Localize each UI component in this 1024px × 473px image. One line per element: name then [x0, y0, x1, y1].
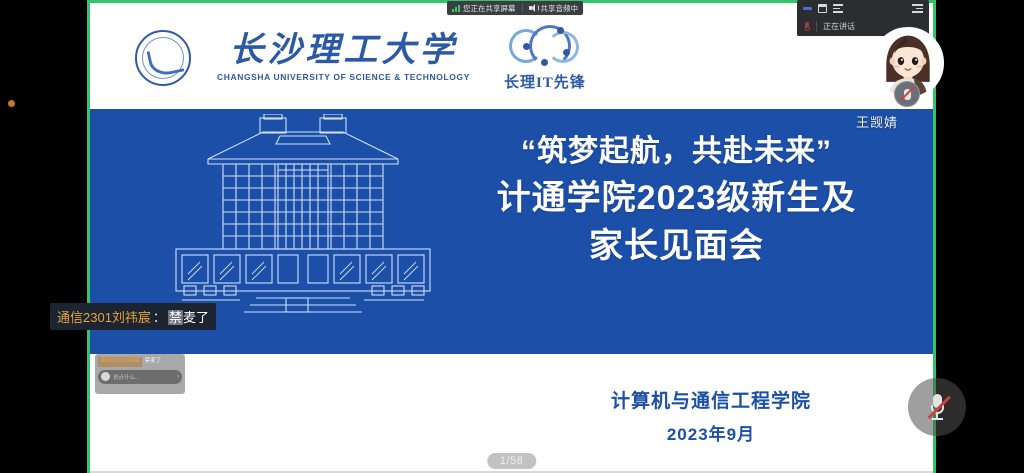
participant-name-label: 王觊婧	[856, 112, 898, 131]
chat-toast-message-highlight: 禁	[168, 310, 183, 325]
screen-root: 长沙理工大学 CHANGSHA UNIVERSITY OF SCIENCE & …	[0, 0, 1024, 473]
slide-title-group: “筑梦起航，共赴未来” 计通学院2023级新生及 家长见面会	[440, 131, 913, 270]
mute-microphone-button[interactable]	[908, 378, 966, 436]
mini-chat-message: 通信2301刘祎宸 禁麦了	[98, 357, 182, 367]
sharing-screen-status: 您正在共享屏幕	[452, 3, 516, 14]
send-icon[interactable]: ›	[177, 374, 179, 380]
university-name-en: CHANGSHA UNIVERSITY OF SCIENCE & TECHNOL…	[217, 72, 470, 82]
mini-chat-input-placeholder[interactable]: 说点什么...	[113, 373, 174, 381]
slide-title-line-2: 计通学院2023级新生及	[440, 174, 913, 222]
list-icon[interactable]	[833, 4, 843, 13]
it-pioneer-label: 长理IT先锋	[504, 71, 586, 92]
sharing-screen-label: 您正在共享屏幕	[463, 3, 516, 14]
university-logo: 长沙理工大学 CHANGSHA UNIVERSITY OF SCIENCE & …	[217, 33, 470, 82]
floating-window-titlebar[interactable]	[797, 0, 929, 17]
slide-footer-org: 计算机与通信工程学院	[611, 386, 811, 413]
restore-icon[interactable]	[818, 4, 827, 13]
slide-title-line-3: 家长见面会	[440, 222, 913, 270]
panel-icon[interactable]	[912, 4, 923, 13]
chat-toast-sender: 通信2301刘祎宸	[57, 307, 151, 326]
participant-avatar-wrapper[interactable]	[872, 27, 944, 99]
mini-chat-input-row[interactable]: 说点什么... ›	[98, 370, 182, 384]
status-divider	[522, 4, 523, 13]
desktop-dot-artifact	[8, 100, 15, 107]
campus-building-illustration	[168, 114, 438, 329]
chat-toast-message-rest: 麦了	[183, 310, 209, 325]
sharing-audio-label: 共享音频中	[541, 3, 579, 14]
chat-toast-message: 禁麦了	[168, 307, 209, 326]
shared-screen-region: 长沙理工大学 CHANGSHA UNIVERSITY OF SCIENCE & …	[87, 0, 936, 473]
presentation-slide[interactable]: 长沙理工大学 CHANGSHA UNIVERSITY OF SCIENCE & …	[90, 3, 933, 473]
network-rings-icon	[507, 23, 583, 69]
minimize-icon[interactable]	[803, 7, 812, 10]
speaking-divider	[816, 21, 817, 32]
emoji-icon[interactable]	[101, 372, 110, 381]
microphone-icon	[804, 22, 810, 32]
university-seal-icon	[135, 30, 191, 86]
screen-share-status-bar[interactable]: 您正在共享屏幕 共享音频中	[447, 1, 583, 15]
signal-bars-icon	[452, 4, 460, 12]
speaker-icon	[529, 4, 538, 12]
mini-chat-text: 禁麦了	[145, 359, 162, 365]
microphone-muted-icon	[931, 394, 944, 420]
chat-toast-colon: ：	[153, 307, 166, 326]
sharing-audio-status: 共享音频中	[529, 3, 579, 14]
slide-title-line-1: “筑梦起航，共赴未来”	[440, 131, 913, 174]
page-indicator: 1/58	[487, 453, 536, 469]
logo-row: 长沙理工大学 CHANGSHA UNIVERSITY OF SCIENCE & …	[135, 23, 586, 92]
floating-window-right-controls[interactable]	[912, 4, 923, 13]
mini-chat-sender: 通信2301刘祎宸	[98, 357, 142, 367]
slide-footer-text: 计算机与通信工程学院 2023年9月	[611, 386, 811, 445]
slide-footer-date: 2023年9月	[611, 420, 811, 445]
mini-chat-panel[interactable]: 通信2301刘祎宸 禁麦了 说点什么... ›	[95, 354, 185, 394]
speaking-label: 正在讲话	[823, 21, 855, 32]
avatar-mute-badge-icon	[894, 81, 920, 107]
slide-footer: 计算机与通信工程学院 2023年9月 1/58	[90, 354, 933, 473]
slide-body: “筑梦起航，共赴未来” 计通学院2023级新生及 家长见面会	[90, 109, 933, 354]
chat-message-toast: 通信2301刘祎宸 ： 禁麦了	[50, 303, 216, 330]
it-pioneer-logo: 长理IT先锋	[504, 23, 586, 92]
university-name-cn: 长沙理工大学	[229, 33, 457, 69]
